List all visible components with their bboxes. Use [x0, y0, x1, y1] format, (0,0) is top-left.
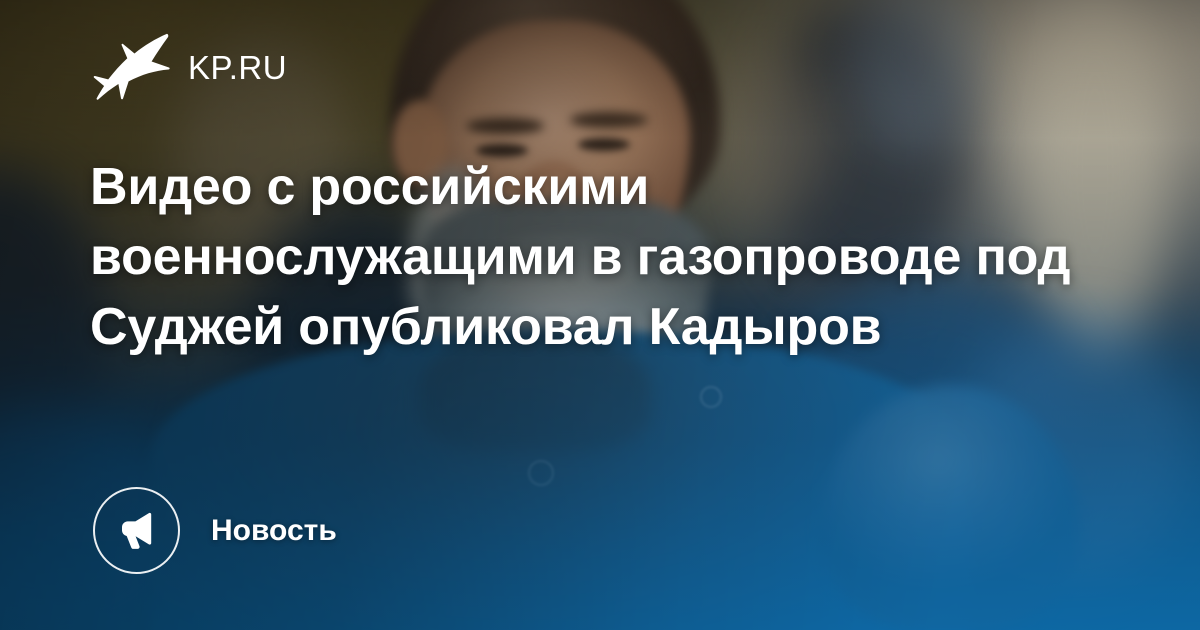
badge-circle: [93, 487, 180, 574]
brand-name: KP.RU: [188, 51, 287, 84]
card-content: KP.RU Видео с российскими военнослужащим…: [0, 0, 1200, 630]
badge-label: Новость: [211, 516, 337, 546]
megaphone-icon: [115, 509, 159, 553]
swallow-bird-icon: [92, 32, 170, 102]
status-badge[interactable]: Новость: [93, 487, 337, 574]
brand-lockup[interactable]: KP.RU: [92, 32, 287, 102]
page-title: Видео с российскими военнослужащими в га…: [90, 152, 1100, 362]
news-share-card: KP.RU Видео с российскими военнослужащим…: [0, 0, 1200, 630]
